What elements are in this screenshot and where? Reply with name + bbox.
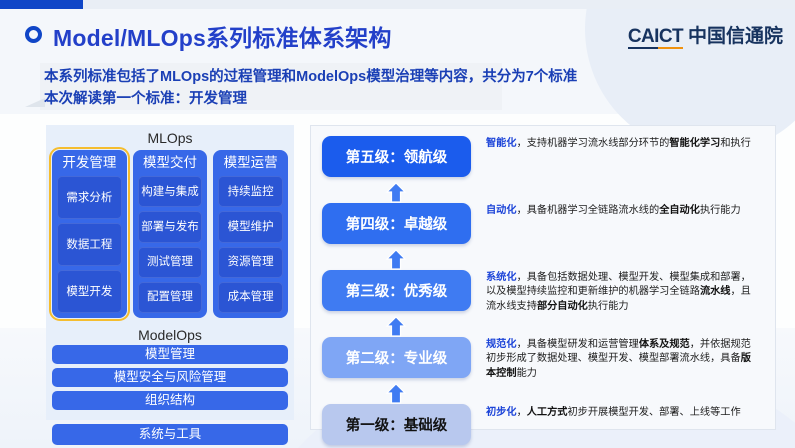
top-accent-bar	[0, 0, 83, 9]
modelops-row[interactable]: 模型管理	[52, 345, 288, 364]
mlops-caption: MLOps	[52, 129, 288, 148]
modelops-group: ModelOps 模型管理 模型安全与风险管理 组织结构	[46, 324, 294, 420]
left-panel: MLOps 开发管理 需求分析 数据工程 模型开发 模型交付 构建与集成 部署与…	[46, 125, 294, 445]
level-text-tail: 初步开展模型开发、部署、上线等工作	[568, 407, 741, 418]
column-body: 开发管理 需求分析 数据工程 模型开发	[52, 150, 127, 318]
level-text: ，具备机器学习全链路流水线的	[517, 205, 660, 216]
tools-group: 系统与工具	[46, 424, 294, 445]
level-text-tail: 能力	[517, 368, 537, 379]
level-box[interactable]: 第三级：优秀级	[322, 270, 471, 311]
logo-mark-text: CAICT	[628, 26, 683, 47]
mlops-column-operations[interactable]: 模型运营 持续监控 模型维护 资源管理 成本管理	[213, 150, 288, 318]
level-text-tail: 和执行	[720, 138, 751, 149]
level-text: ，	[517, 407, 527, 418]
level-keyword: 初步化	[486, 407, 517, 418]
mlops-item[interactable]: 构建与集成	[138, 176, 203, 207]
level-keyword: 系统化	[486, 272, 517, 283]
logo-name: 中国信通院	[688, 27, 783, 49]
mlops-item[interactable]: 需求分析	[57, 176, 122, 219]
mlops-item[interactable]: 配置管理	[138, 282, 203, 313]
level-emphasis: 流水线	[700, 286, 731, 297]
level-text: ，支持机器学习流水线部分环节的	[517, 138, 670, 149]
level-text-tail: 执行能力	[588, 301, 629, 312]
subtitle-line-1: 本系列标准包括了MLOps的过程管理和ModelOps模型治理等内容，共分为7个…	[44, 66, 564, 88]
level-keyword: 规范化	[486, 339, 517, 350]
slide-header: Model/MLOps系列标准体系架构 CAICT 中国信通院	[0, 9, 795, 57]
level-emphasis-2: 部分自动化	[537, 301, 588, 312]
mlops-item[interactable]: 部署与发布	[138, 211, 203, 242]
page-title: Model/MLOps系列标准体系架构	[53, 19, 392, 53]
level-description: 规范化，具备模型研发和运营管理体系及规范，并依据规范初步形成了数据处理、模型开发…	[486, 337, 756, 381]
maturity-levels-panel: 第五级：领航级 智能化，支持机器学习流水线部分环节的智能化学习和执行 第四级：卓…	[310, 125, 776, 430]
modelops-row[interactable]: 组织结构	[52, 391, 288, 410]
level-emphasis: 体系及规范	[639, 339, 690, 350]
logo-underline	[628, 47, 683, 50]
modelops-row[interactable]: 模型安全与风险管理	[52, 368, 288, 387]
level-description: 初步化，人工方式初步开展模型开发、部署、上线等工作	[486, 405, 756, 420]
level-emphasis: 人工方式	[527, 407, 568, 418]
level-description: 系统化，具备包括数据处理、模型开发、模型集成和部署，以及模型持续监控和更新维护的…	[486, 270, 756, 314]
up-arrow-icon	[385, 316, 407, 337]
mlops-item[interactable]: 模型开发	[57, 270, 122, 313]
level-description: 智能化，支持机器学习流水线部分环节的智能化学习和执行	[486, 136, 756, 151]
maturity-level-3[interactable]: 第三级：优秀级 系统化，具备包括数据处理、模型开发、模型集成和部署，以及模型持续…	[322, 270, 766, 317]
maturity-level-5[interactable]: 第五级：领航级 智能化，支持机器学习流水线部分环节的智能化学习和执行	[322, 136, 766, 183]
caict-logo: CAICT 中国信通院	[628, 27, 783, 49]
tools-row[interactable]: 系统与工具	[52, 424, 288, 445]
level-text-tail: 执行能力	[700, 205, 741, 216]
level-description: 自动化，具备机器学习全链路流水线的全自动化执行能力	[486, 203, 756, 218]
subtitle-text: 本系列标准包括了MLOps的过程管理和ModelOps模型治理等内容，共分为7个…	[44, 66, 564, 110]
up-arrow-icon	[385, 182, 407, 203]
mlops-column-development[interactable]: 开发管理 需求分析 数据工程 模型开发	[52, 150, 127, 318]
mlops-item[interactable]: 模型维护	[218, 211, 283, 242]
level-emphasis: 全自动化	[659, 205, 700, 216]
column-title: 模型交付	[138, 153, 203, 172]
mlops-column-delivery[interactable]: 模型交付 构建与集成 部署与发布 测试管理 配置管理	[133, 150, 208, 318]
up-arrow-icon	[385, 249, 407, 270]
mlops-group: MLOps 开发管理 需求分析 数据工程 模型开发 模型交付 构建与集成 部署与…	[46, 125, 294, 324]
level-text: ，具备模型研发和运营管理	[517, 339, 639, 350]
column-body: 模型交付 构建与集成 部署与发布 测试管理 配置管理	[133, 150, 208, 318]
modelops-caption: ModelOps	[52, 326, 288, 345]
level-keyword: 智能化	[486, 138, 517, 149]
column-body: 模型运营 持续监控 模型维护 资源管理 成本管理	[213, 150, 288, 318]
level-box[interactable]: 第二级：专业级	[322, 337, 471, 378]
subtitle-line-2: 本次解读第一个标准：开发管理	[44, 88, 564, 110]
level-box[interactable]: 第四级：卓越级	[322, 203, 471, 244]
mlops-item[interactable]: 成本管理	[218, 282, 283, 313]
level-box[interactable]: 第一级：基础级	[322, 404, 471, 445]
column-title: 模型运营	[218, 153, 283, 172]
mlops-item[interactable]: 资源管理	[218, 247, 283, 278]
top-strip	[0, 0, 795, 9]
maturity-level-4[interactable]: 第四级：卓越级 自动化，具备机器学习全链路流水线的全自动化执行能力	[322, 203, 766, 250]
slide-root: Model/MLOps系列标准体系架构 CAICT 中国信通院 本系列标准包括了…	[0, 0, 795, 448]
mlops-item[interactable]: 测试管理	[138, 247, 203, 278]
mlops-columns: 开发管理 需求分析 数据工程 模型开发 模型交付 构建与集成 部署与发布 测试管…	[52, 150, 288, 318]
ring-bullet-icon	[25, 26, 42, 43]
level-box[interactable]: 第五级：领航级	[322, 136, 471, 177]
mlops-item[interactable]: 持续监控	[218, 176, 283, 207]
maturity-level-1[interactable]: 第一级：基础级 初步化，人工方式初步开展模型开发、部署、上线等工作	[322, 382, 766, 429]
level-emphasis: 智能化学习	[669, 138, 720, 149]
maturity-level-2[interactable]: 第二级：专业级 规范化，具备模型研发和运营管理体系及规范，并依据规范初步形成了数…	[322, 337, 766, 384]
column-title: 开发管理	[57, 153, 122, 172]
logo-mark: CAICT	[628, 27, 683, 49]
level-keyword: 自动化	[486, 205, 517, 216]
mlops-item[interactable]: 数据工程	[57, 223, 122, 266]
